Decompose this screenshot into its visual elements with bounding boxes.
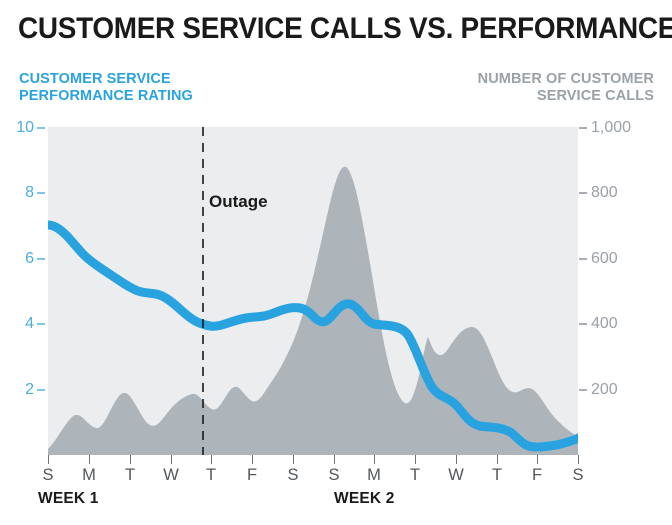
left-axis-tick-6: 6	[0, 250, 34, 268]
x-tick-label-13: S	[566, 466, 590, 485]
left-tick-dash-10	[37, 127, 45, 129]
chart-container: CUSTOMER SERVICE CALLS VS. PERFORMANCE C…	[0, 0, 672, 525]
right-tick-dash-200	[579, 389, 587, 391]
week-label-2: WEEK 2	[334, 490, 395, 508]
x-tick-label-6: S	[281, 466, 305, 485]
x-tick-mark-5	[252, 455, 253, 464]
x-tick-label-12: F	[525, 466, 549, 485]
right-axis-tick-600: 600	[591, 250, 618, 268]
right-axis-tick-200: 200	[591, 381, 618, 399]
x-tick-mark-7	[334, 455, 335, 464]
x-tick-label-11: T	[485, 466, 509, 485]
left-axis-caption: CUSTOMER SERVICE PERFORMANCE RATING	[19, 71, 193, 105]
left-axis-tick-2: 2	[0, 381, 34, 399]
x-tick-mark-6	[293, 455, 294, 464]
x-tick-mark-4	[211, 455, 212, 464]
x-tick-mark-13	[578, 455, 579, 464]
x-tick-label-9: T	[403, 466, 427, 485]
x-tick-mark-12	[537, 455, 538, 464]
page-title: CUSTOMER SERVICE CALLS VS. PERFORMANCE	[18, 12, 672, 46]
x-tick-label-0: S	[36, 466, 60, 485]
x-tick-label-2: T	[118, 466, 142, 485]
outage-annotation-label: Outage	[209, 192, 268, 212]
week-label-1: WEEK 1	[38, 490, 99, 508]
x-tick-mark-10	[456, 455, 457, 464]
left-tick-dash-8	[37, 192, 45, 194]
plot-area	[48, 127, 578, 455]
x-tick-mark-2	[130, 455, 131, 464]
right-axis-tick-800: 800	[591, 184, 618, 202]
x-tick-label-4: T	[199, 466, 223, 485]
right-axis-tick-1000: 1,000	[591, 119, 631, 137]
x-tick-mark-0	[48, 455, 49, 464]
right-axis-tick-400: 400	[591, 315, 618, 333]
x-tick-mark-1	[89, 455, 90, 464]
right-tick-dash-800	[579, 192, 587, 194]
left-axis-tick-8: 8	[0, 184, 34, 202]
x-tick-label-10: W	[444, 466, 468, 485]
left-tick-dash-2	[37, 389, 45, 391]
left-tick-dash-4	[37, 323, 45, 325]
right-tick-dash-400	[579, 323, 587, 325]
left-axis-tick-4: 4	[0, 315, 34, 333]
left-tick-dash-6	[37, 258, 45, 260]
x-tick-label-7: S	[322, 466, 346, 485]
left-axis-tick-10: 10	[0, 119, 34, 137]
chart-svg	[48, 127, 578, 455]
right-axis-caption: NUMBER OF CUSTOMER SERVICE CALLS	[478, 71, 654, 105]
x-tick-mark-11	[497, 455, 498, 464]
x-tick-label-1: M	[77, 466, 101, 485]
x-tick-label-3: W	[159, 466, 183, 485]
x-tick-mark-3	[171, 455, 172, 464]
x-tick-mark-8	[374, 455, 375, 464]
right-tick-dash-1000	[579, 127, 587, 129]
x-tick-label-5: F	[240, 466, 264, 485]
right-tick-dash-600	[579, 258, 587, 260]
x-tick-label-8: M	[362, 466, 386, 485]
x-tick-mark-9	[415, 455, 416, 464]
